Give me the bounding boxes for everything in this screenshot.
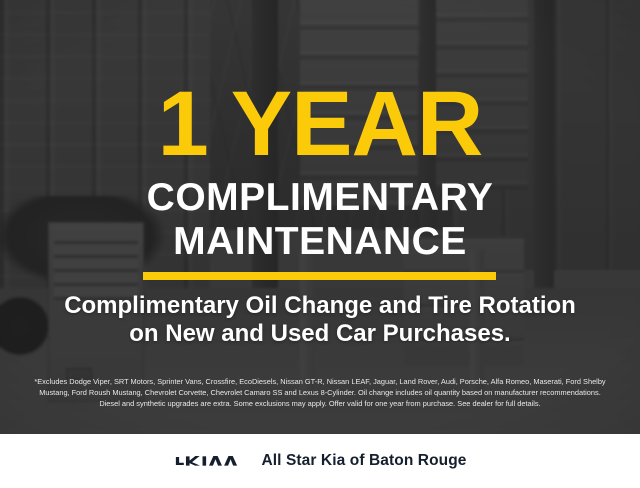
headline-complimentary: COMPLIMENTARY: [0, 178, 640, 217]
dealer-name-label: All Star Kia of Baton Rouge: [261, 452, 466, 470]
offer-text-line-2: on New and Used Car Purchases.: [0, 320, 640, 348]
kia-logo-icon: [173, 452, 245, 470]
ad-content: 1 YEAR COMPLIMENTARY MAINTENANCE Complim…: [0, 0, 640, 434]
headline-year: 1 YEAR: [0, 78, 640, 170]
disclaimer-line-3: Diesel and synthetic upgrades are extra.…: [14, 398, 626, 409]
offer-text-line-1: Complimentary Oil Change and Tire Rotati…: [0, 292, 640, 320]
disclaimer-line-2: Mustang, Ford Roush Mustang, Chevrolet C…: [14, 387, 626, 398]
promotional-ad-banner: 1 YEAR COMPLIMENTARY MAINTENANCE Complim…: [0, 0, 640, 488]
disclaimer-text: *Excludes Dodge Viper, SRT Motors, Sprin…: [14, 376, 626, 410]
disclaimer-line-1: *Excludes Dodge Viper, SRT Motors, Sprin…: [14, 376, 626, 387]
yellow-divider-rule: [143, 272, 496, 280]
headline-maintenance: MAINTENANCE: [0, 222, 640, 261]
dealer-footer-bar: All Star Kia of Baton Rouge: [0, 434, 640, 488]
